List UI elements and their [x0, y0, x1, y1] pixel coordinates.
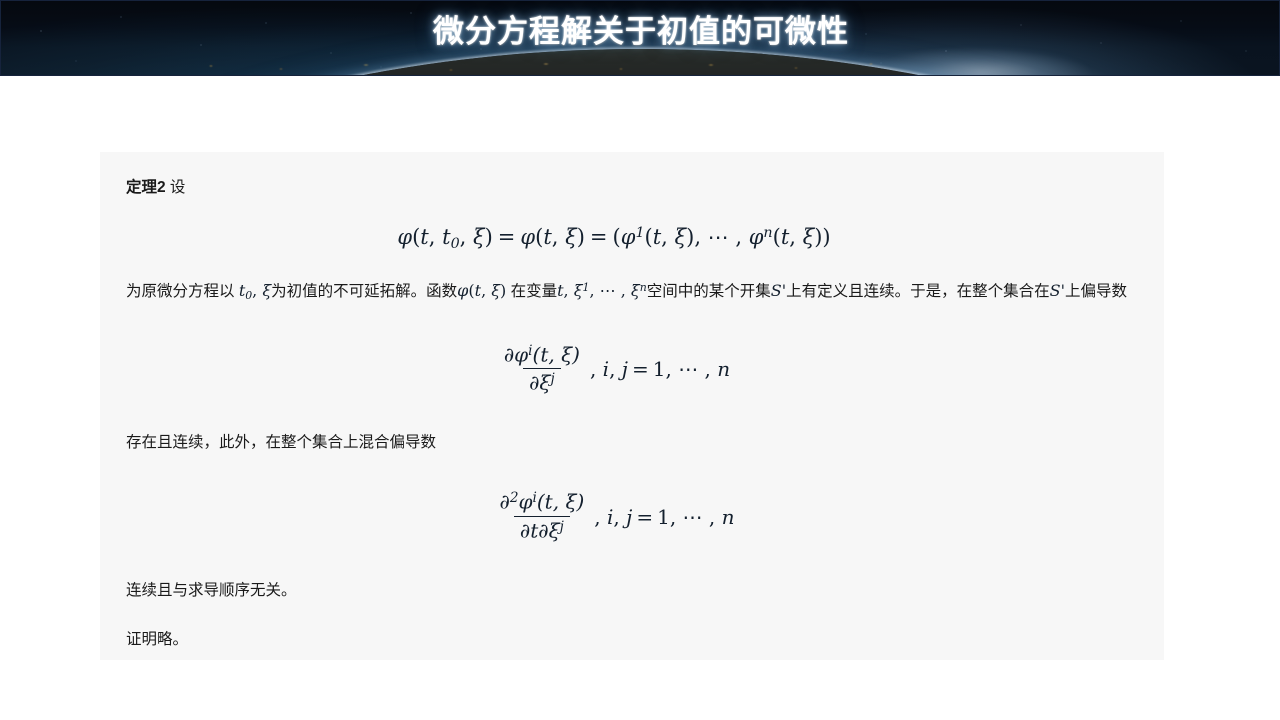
- equation-2-expression: ∂φi(t, ξ) ∂ξj , i, j=1, ⋯ , n: [498, 343, 766, 395]
- p1-seg-a: 为原微分方程以: [126, 283, 239, 300]
- equation-3-index-range: , i, j=1, ⋯ , n: [590, 505, 734, 529]
- equation-2-index-range: , i, j=1, ⋯ , n: [586, 357, 730, 381]
- slide-content-area: 定理2 设 φ(t, t0, ξ)=φ(t, ξ)=(φ1(t, ξ), ⋯ ,…: [0, 76, 1280, 720]
- equation-1: φ(t, t0, ξ)=φ(t, ξ)=(φ1(t, ξ), ⋯ , φn(t,…: [114, 225, 1150, 252]
- equation-3-numerator: ∂2φi(t, ξ): [493, 490, 590, 515]
- p1-math-vars: t, ξ1, ⋯ , ξn: [557, 281, 647, 300]
- p1-math-sprime: S': [771, 281, 786, 300]
- p1-seg-c: 在变量: [506, 283, 557, 300]
- page-title: 微分方程解关于初值的可微性: [1, 1, 1280, 76]
- equation-2: ∂φi(t, ξ) ∂ξj , i, j=1, ⋯ , n: [114, 343, 1150, 395]
- paragraph-spacer: [114, 604, 1150, 626]
- theorem-paragraph-2: 存在且连续，此外，在整个集合上混合偏导数: [114, 429, 1150, 456]
- equation-2-denominator: ∂ξj: [523, 368, 561, 395]
- theorem-paragraph-1: 为原微分方程以 t0, ξ为初值的不可延拓解。函数φ(t, ξ) 在变量t, ξ…: [114, 274, 1150, 309]
- equation-3: ∂2φi(t, ξ) ∂t∂ξj , i, j=1, ⋯ , n: [114, 490, 1150, 542]
- slide-header-banner: 微分方程解关于初值的可微性: [0, 0, 1280, 76]
- theorem-label: 定理2: [126, 179, 166, 196]
- equation-2-numerator: ∂φi(t, ξ): [498, 343, 586, 368]
- theorem-paragraph-4: 证明略。: [114, 626, 1150, 653]
- equation-3-expression: ∂2φi(t, ξ) ∂t∂ξj , i, j=1, ⋯ , n: [493, 490, 770, 542]
- theorem-panel: 定理2 设 φ(t, t0, ξ)=φ(t, ξ)=(φ1(t, ξ), ⋯ ,…: [100, 152, 1164, 660]
- theorem-label-suffix: 设: [166, 179, 186, 196]
- p1-seg-d: 空间中的某个开集: [647, 283, 771, 300]
- p1-math-phi: φ(t, ξ): [457, 281, 506, 300]
- theorem-heading: 定理2 设: [114, 172, 1150, 201]
- equation-2-fraction: ∂φi(t, ξ) ∂ξj: [498, 343, 586, 395]
- theorem-paragraph-3: 连续且与求导顺序无关。: [114, 577, 1150, 604]
- p1-seg-e: 上有定义且连续。于是，在整个集合在: [786, 283, 1050, 300]
- p1-math-t0: t0, ξ: [239, 281, 271, 300]
- p1-seg-b: 为初值的不可延拓解。函数: [271, 283, 457, 300]
- equation-3-denominator: ∂t∂ξj: [514, 516, 570, 543]
- p1-seg-f: 上偏导数: [1065, 283, 1127, 300]
- p1-math-sprime-2: S': [1050, 281, 1065, 300]
- equation-1-expression: φ(t, t0, ξ)=φ(t, ξ)=(φ1(t, ξ), ⋯ , φn(t,…: [397, 225, 830, 252]
- equation-3-fraction: ∂2φi(t, ξ) ∂t∂ξj: [493, 490, 590, 542]
